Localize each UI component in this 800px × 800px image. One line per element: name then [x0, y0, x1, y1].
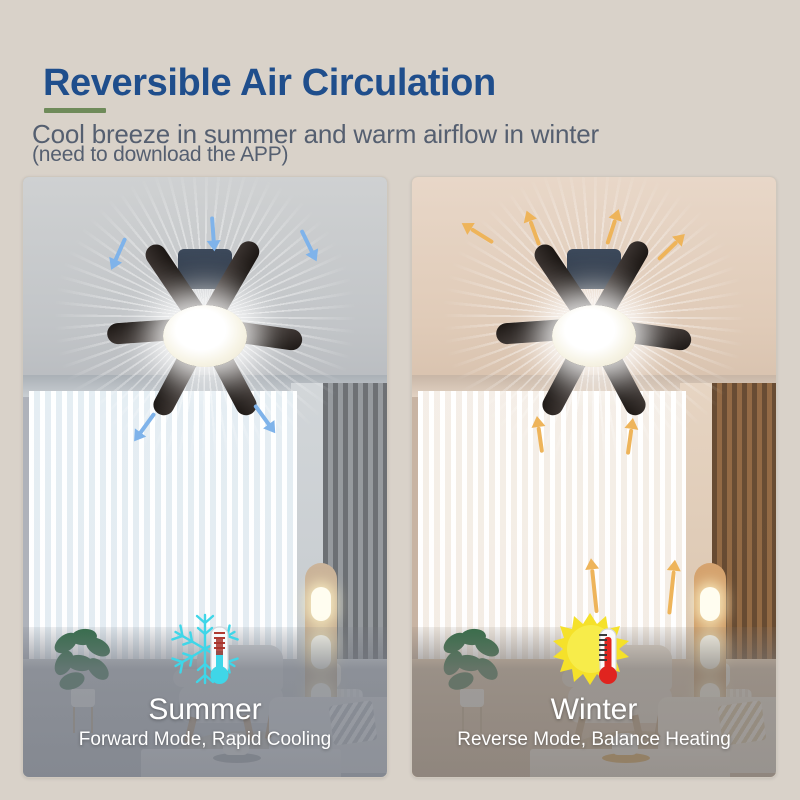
fan-light-globe [552, 305, 636, 367]
caption-title: Summer [148, 695, 261, 725]
page-subtitle-note: (need to download the APP) [32, 143, 288, 167]
caption-subtitle: Reverse Mode, Balance Heating [457, 729, 731, 751]
page-title: Reversible Air Circulation [43, 62, 496, 105]
panel-winter: Winter Reverse Mode, Balance Heating [411, 176, 777, 778]
caption-subtitle: Forward Mode, Rapid Cooling [79, 729, 331, 751]
snowflake-thermometer-icon [163, 607, 247, 691]
header: Reversible Air Circulation Cool breeze i… [0, 0, 800, 176]
caption-winter: Winter Reverse Mode, Balance Heating [412, 627, 776, 777]
caption-title: Winter [551, 695, 638, 725]
panel-summer: Summer Forward Mode, Rapid Cooling [22, 176, 388, 778]
ceiling-fan-winter [469, 227, 719, 407]
caption-summer: Summer Forward Mode, Rapid Cooling [23, 627, 387, 777]
title-underline-rule [44, 108, 106, 113]
sun-thermometer-icon [552, 607, 636, 691]
fan-light-globe [163, 305, 247, 367]
